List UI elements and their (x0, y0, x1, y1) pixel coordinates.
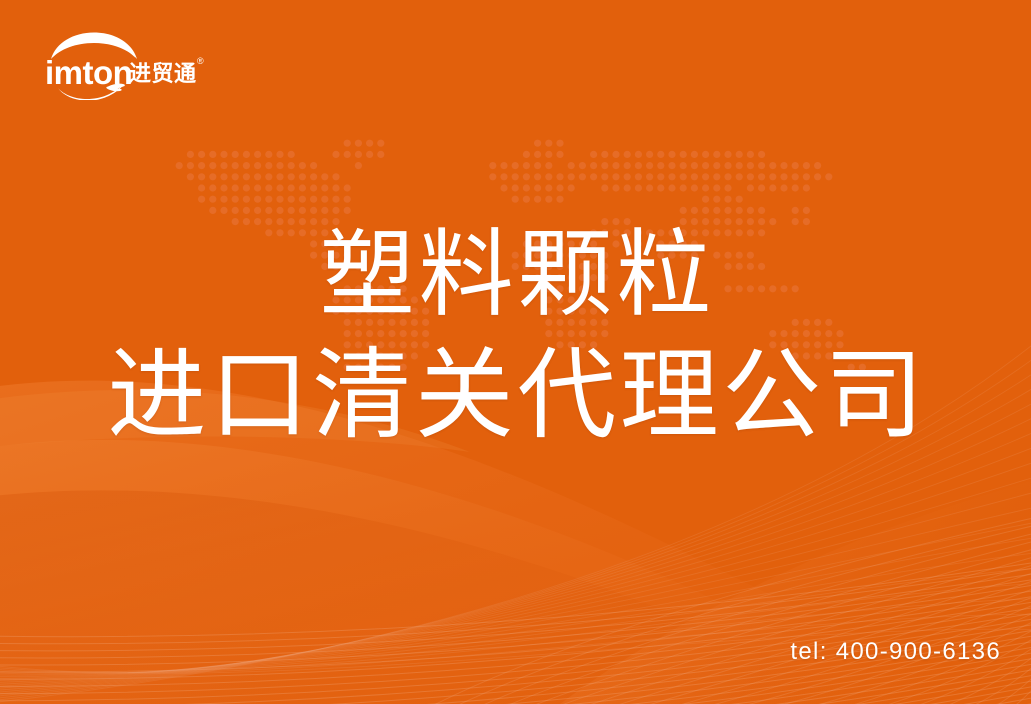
headline-line-1: 塑料颗粒 (0, 228, 1031, 323)
headline-line-2: 进口清关代理公司 (0, 345, 1031, 444)
logo-chinese-text: 进贸通 (129, 62, 197, 87)
contact-phone[interactable]: tel: 400-900-6136 (790, 638, 1001, 666)
registered-trademark-icon: ® (197, 56, 204, 66)
poster-canvas: imton 进贸通 ® 塑料颗粒 进口清关代理公司 tel: 400-900-6… (0, 0, 1031, 704)
brand-logo[interactable]: imton 进贸通 ® (44, 30, 224, 100)
globe-arc-logo-icon: imton 进贸通 ® (44, 30, 224, 100)
page-title: 塑料颗粒 进口清关代理公司 (0, 228, 1031, 444)
